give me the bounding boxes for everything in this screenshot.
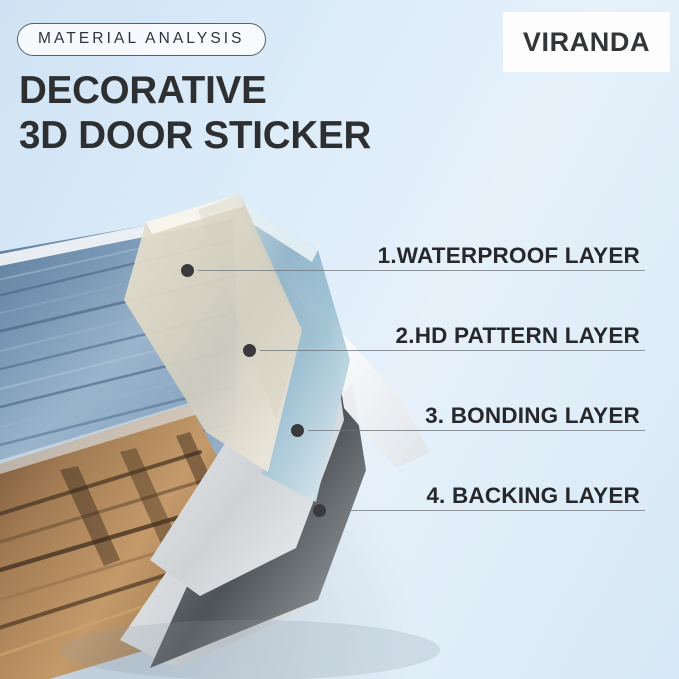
callout-label-1: 1.WATERPROOF LAYER bbox=[378, 245, 640, 268]
page-title-line-2: 3D DOOR STICKER bbox=[19, 113, 371, 158]
callout-1: 1.WATERPROOF LAYER bbox=[378, 245, 640, 268]
callout-dot-4 bbox=[313, 504, 326, 517]
callout-dot-3 bbox=[291, 424, 304, 437]
callout-4: 4. BACKING LAYER bbox=[426, 485, 640, 508]
badge-material-analysis: MATERIAL ANALYSIS bbox=[17, 23, 266, 56]
callout-label-4: 4. BACKING LAYER bbox=[426, 485, 640, 508]
brand-name: VIRANDA bbox=[523, 27, 650, 58]
callout-2: 2.HD PATTERN LAYER bbox=[396, 325, 640, 348]
callout-label-3: 3. BONDING LAYER bbox=[425, 405, 640, 428]
callout-dot-1 bbox=[181, 264, 194, 277]
callout-leader-line-3 bbox=[308, 430, 645, 431]
callout-dot-2 bbox=[243, 344, 256, 357]
callout-leader-line-2 bbox=[260, 350, 645, 351]
callout-leader-line-1 bbox=[198, 270, 645, 271]
callout-3: 3. BONDING LAYER bbox=[425, 405, 640, 428]
brand-logo: VIRANDA bbox=[503, 12, 670, 72]
poster-canvas: MATERIAL ANALYSIS DECORATIVE 3D DOOR STI… bbox=[0, 0, 679, 679]
page-title: DECORATIVE 3D DOOR STICKER bbox=[19, 68, 371, 158]
page-title-line-1: DECORATIVE bbox=[19, 69, 267, 112]
callout-label-2: 2.HD PATTERN LAYER bbox=[396, 325, 640, 348]
callout-leader-line-4 bbox=[330, 510, 645, 511]
